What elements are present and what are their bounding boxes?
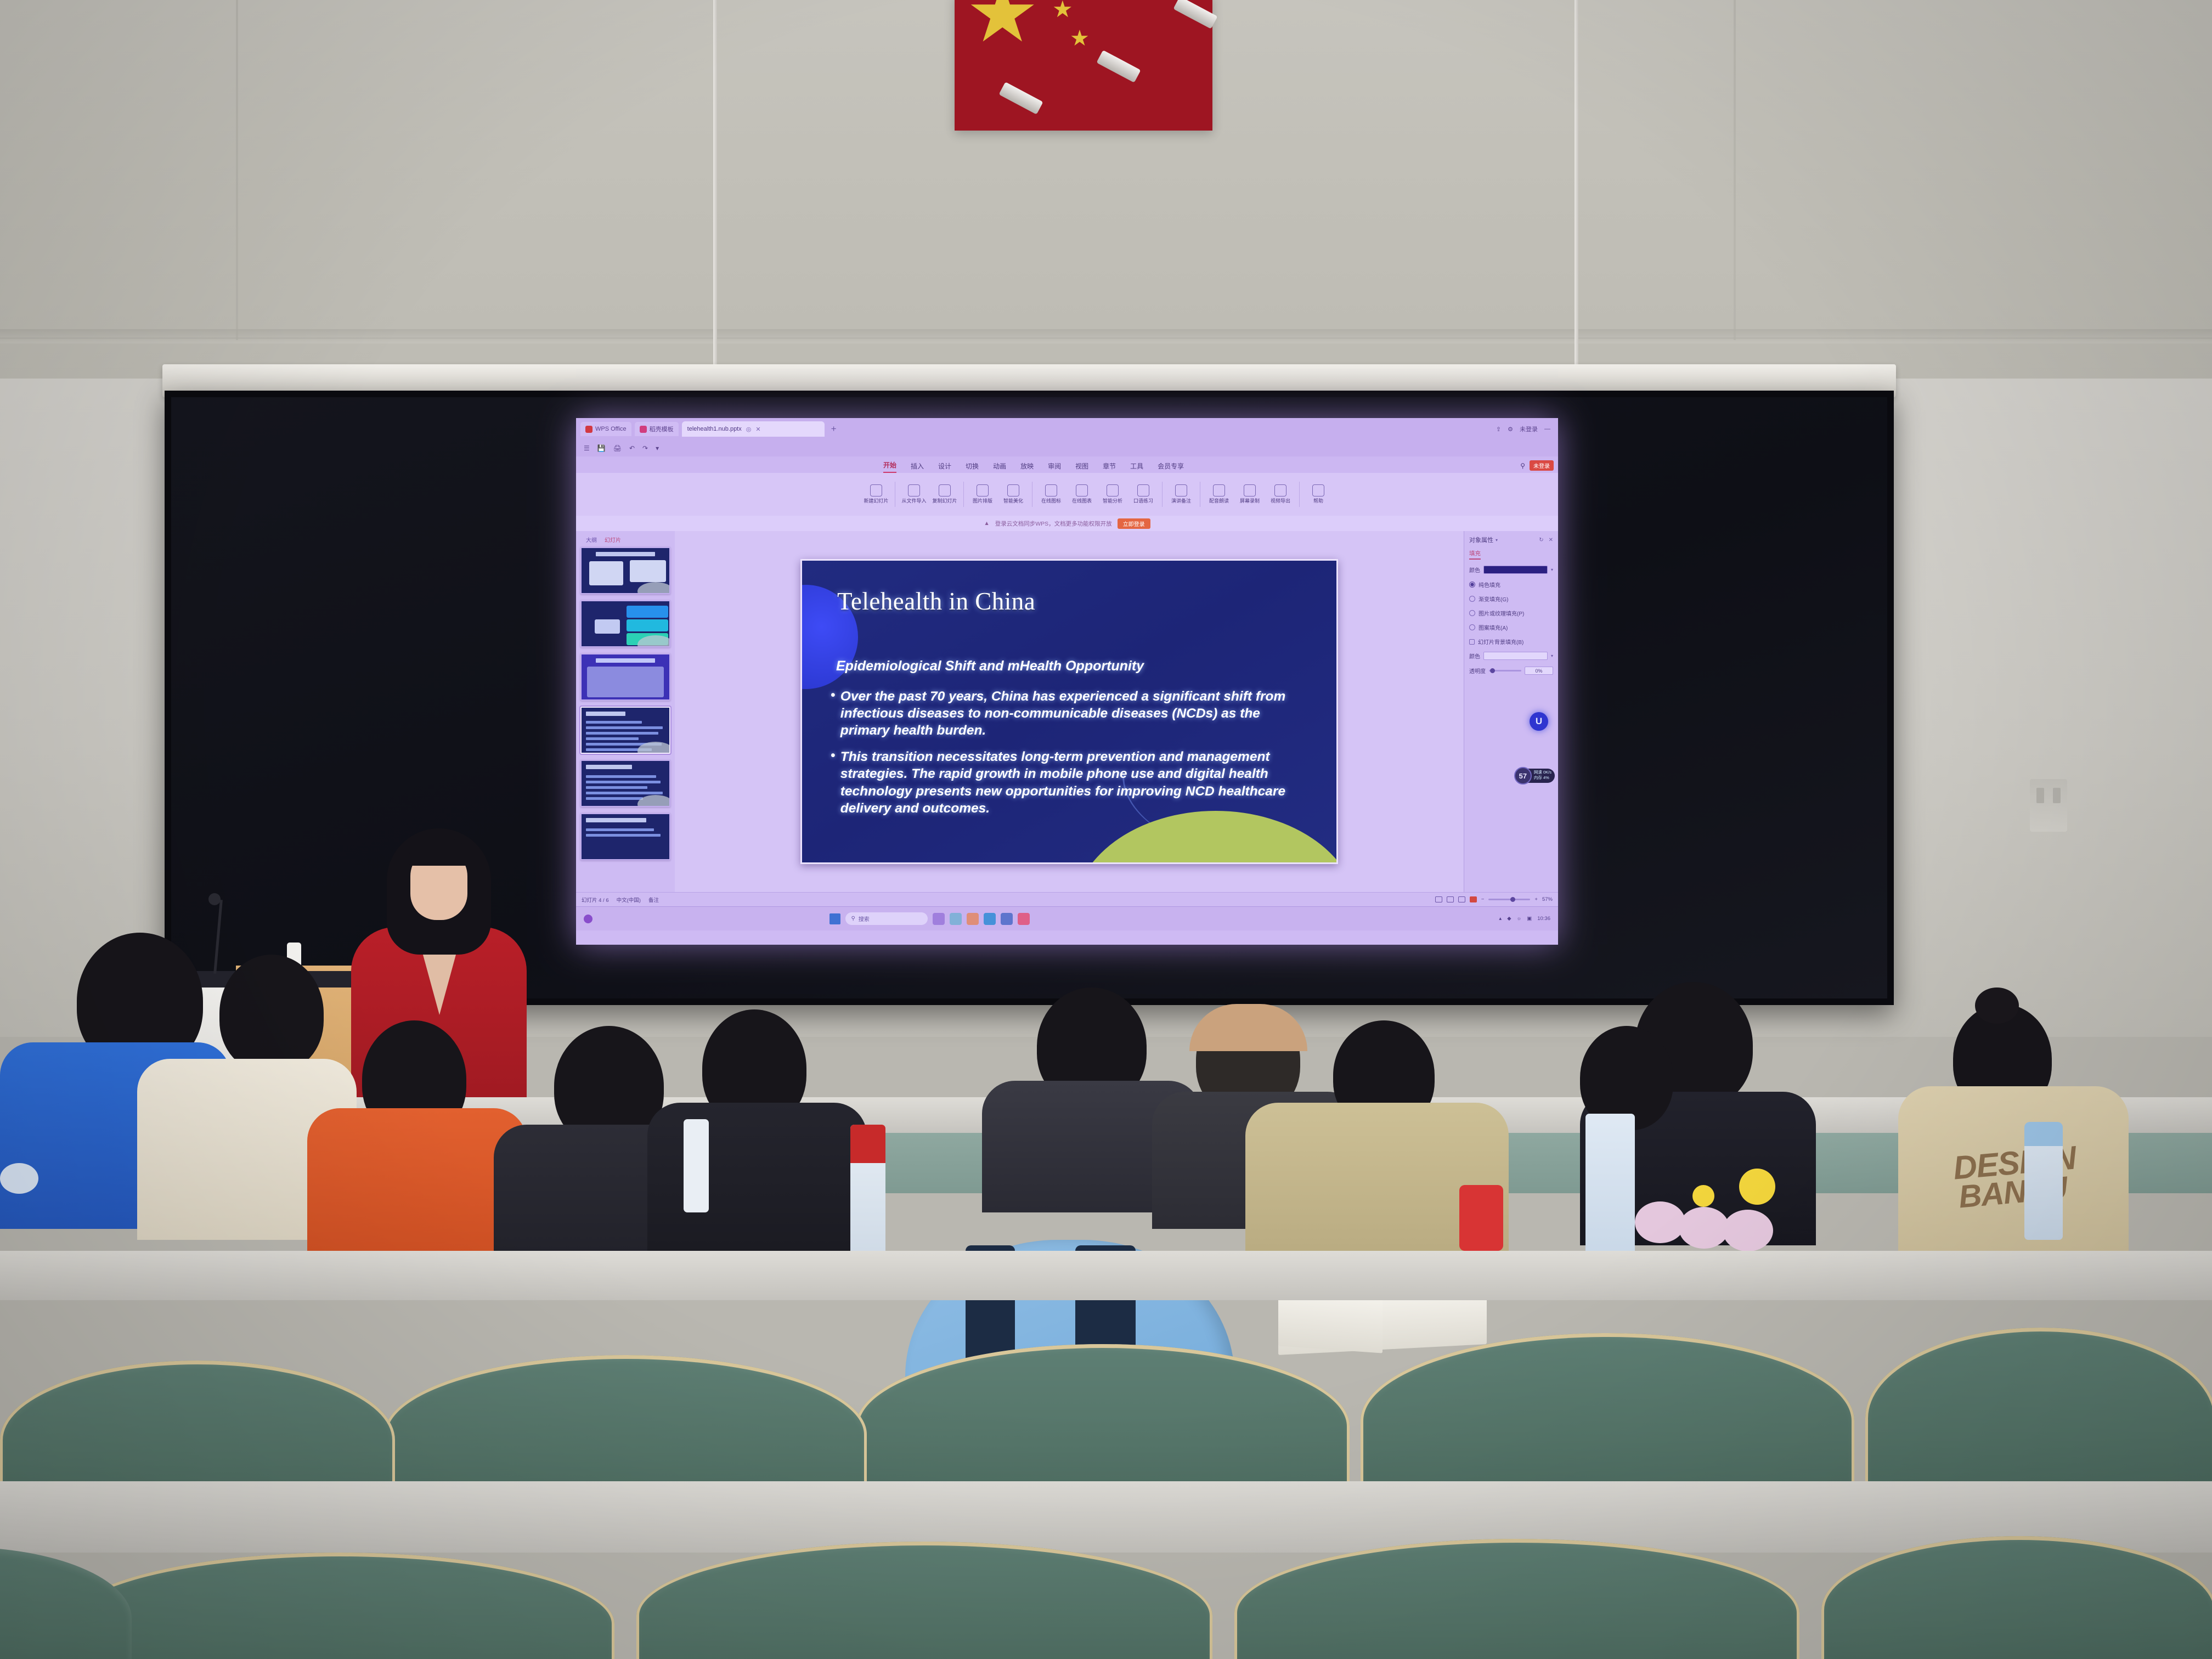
print-icon[interactable]: 🖨 <box>613 444 622 452</box>
wall-seam <box>236 0 238 340</box>
radio-icon[interactable] <box>1469 624 1475 630</box>
bullet-dot-icon: • <box>831 748 836 816</box>
ribbon-smart-analysis[interactable]: 智能分析 <box>1098 484 1127 504</box>
smart-analysis-icon <box>1107 484 1119 496</box>
store-icon[interactable] <box>1001 913 1013 925</box>
search-icon: ⚲ <box>851 916 855 922</box>
chinese-flag: ★ ★ ★ <box>955 0 1212 131</box>
volume-icon[interactable]: ☼ <box>1517 916 1522 922</box>
thumb-line <box>586 792 663 794</box>
share-icon[interactable]: ⇪ <box>1496 426 1501 433</box>
duplicate-slide-icon <box>939 484 951 496</box>
fill-option-label: 图案填充(A) <box>1479 623 1508 631</box>
object-properties-pane[interactable]: 对象属性 ▾ ↻ ✕ 填充 颜色 ▾ 纯色填充 <box>1464 531 1558 892</box>
flag-clip <box>1096 50 1141 83</box>
screen-record-icon <box>1244 484 1256 496</box>
wps-titlebar: WPS Office 稻壳模板 telehealth1.nub.pptx ◎ ✕… <box>576 418 1558 440</box>
microphone-head <box>208 893 221 905</box>
login-notice-bar[interactable]: ▲ 登录云文档同步WPS，文档更多功能权限开放 立即登录 <box>576 516 1558 531</box>
outline-tab[interactable]: 大纲 <box>586 535 597 544</box>
tab-insert[interactable]: 插入 <box>911 461 924 473</box>
graphic-print <box>1723 1210 1773 1251</box>
undo-icon[interactable]: ↶ <box>629 444 635 452</box>
smiley-patch-icon <box>1739 1169 1775 1205</box>
ribbon-tab-bar[interactable]: 开始 插入 设计 切换 动画 放映 审阅 视图 章节 工具 会员专享 ⚲ 未登录 <box>576 456 1558 473</box>
color-field-row[interactable]: 颜色 ▾ <box>1469 652 1553 660</box>
flag-star-small: ★ <box>1070 27 1090 49</box>
taskbar-center-group: ⚲ 搜索 <box>830 912 1030 925</box>
ribbon-import-file[interactable]: 从文件导入 <box>899 484 929 504</box>
thumb-blob <box>637 582 670 594</box>
red-thermos <box>1459 1185 1503 1251</box>
ribbon-import-file-label: 从文件导入 <box>901 499 926 504</box>
edge-icon[interactable] <box>984 913 996 925</box>
battery-icon[interactable]: ▣ <box>1527 916 1532 922</box>
bottle-cap <box>2024 1122 2063 1146</box>
slide-indicator: 幻灯片 4 / 6 <box>582 896 609 904</box>
transparency-slider[interactable] <box>1489 670 1521 672</box>
graphic-print <box>1635 1201 1685 1243</box>
slide-title[interactable]: Telehealth in China <box>837 587 1035 616</box>
slide-canvas-area[interactable]: Telehealth in China Epidemiological Shif… <box>675 531 1464 892</box>
search-placeholder: 搜索 <box>859 915 870 923</box>
ribbon-dubbing[interactable]: 配音朗读 <box>1204 484 1234 504</box>
slide-bullet-item[interactable]: • This transition necessitates long-term… <box>831 748 1310 816</box>
thumb-bar <box>627 606 668 618</box>
taskbar-clock[interactable]: 10:36 <box>1537 916 1550 922</box>
ribbon-beautify-label: 智能美化 <box>1003 499 1023 504</box>
help-icon <box>1312 484 1324 496</box>
slide-bullet-text: Over the past 70 years, China has experi… <box>840 688 1310 739</box>
ribbon-speech-practice[interactable]: 口语练习 <box>1128 484 1158 504</box>
radio-icon[interactable] <box>1469 582 1475 588</box>
shirt-logo <box>0 1163 38 1194</box>
ribbon-new-slide[interactable]: 新建幻灯片 <box>861 484 891 504</box>
tab-view[interactable]: 视图 <box>1075 461 1088 473</box>
student-torso <box>647 1103 867 1262</box>
thumb-title-bar <box>596 658 655 663</box>
language-indicator[interactable]: 中文(中国) <box>617 896 641 904</box>
transparency-value[interactable]: 0% <box>1525 667 1553 675</box>
wall-seam <box>0 337 2212 339</box>
properties-pane-title: 对象属性 <box>1469 535 1493 544</box>
zoom-slider[interactable] <box>1488 899 1530 900</box>
seat-trim <box>66 1553 614 1659</box>
online-chart-icon <box>1076 484 1088 496</box>
warning-icon: ▲ <box>984 520 989 527</box>
login-badge[interactable]: 未登录 <box>1530 460 1554 471</box>
fill-option-slide-background[interactable]: 幻灯片背景填充(B) <box>1469 637 1553 646</box>
wps-home-tab-label: WPS Office <box>595 426 627 432</box>
weather-icon <box>584 915 592 923</box>
close-tab-icon[interactable]: ✕ <box>755 426 760 433</box>
smiley-patch-icon <box>1692 1185 1714 1207</box>
hanging-cable <box>1575 0 1578 384</box>
student-head <box>219 955 324 1073</box>
dubbing-icon <box>1213 484 1225 496</box>
thumb-line <box>586 797 643 800</box>
menu-icon[interactable]: ☰ <box>584 444 590 452</box>
thumb-title-bar <box>586 765 632 769</box>
copilot-icon[interactable] <box>933 913 945 925</box>
checkbox-icon[interactable] <box>1469 639 1475 645</box>
tab-design[interactable]: 设计 <box>938 461 951 473</box>
tab-animation[interactable]: 动画 <box>993 461 1006 473</box>
ribbon-smart-analysis-label: 智能分析 <box>1103 499 1122 504</box>
thumb-line <box>586 737 639 740</box>
thumb-title-bar <box>596 552 655 556</box>
transparency-row[interactable]: 透明度 0% <box>1469 667 1553 675</box>
lock-icon[interactable]: ◎ <box>746 426 752 433</box>
ribbon-online-chart-label: 在线图表 <box>1072 499 1092 504</box>
taskbar-search-input[interactable]: ⚲ 搜索 <box>845 912 928 925</box>
thumb-line <box>586 732 658 735</box>
thumb-bar <box>627 619 668 631</box>
slides-tab[interactable]: 幻灯片 <box>605 535 621 544</box>
slide-subtitle[interactable]: Epidemiological Shift and mHealth Opport… <box>836 658 1144 674</box>
ribbon-divider <box>895 482 895 507</box>
properties-pane-header: 对象属性 ▾ ↻ ✕ <box>1469 535 1553 544</box>
wps-home-tab[interactable]: WPS Office <box>580 422 631 436</box>
ribbon-right: ⚲ 未登录 <box>1520 460 1554 471</box>
thumb-pyramid <box>595 619 620 634</box>
seat-trim <box>1234 1539 1799 1659</box>
ribbon-online-chart[interactable]: 在线图表 <box>1067 484 1097 504</box>
fill-option-label: 幻灯片背景填充(B) <box>1478 637 1523 646</box>
thumb-card <box>587 667 664 697</box>
chevron-down-icon[interactable]: ▾ <box>1551 653 1553 658</box>
ribbon-divider <box>1162 482 1163 507</box>
flag-star-small: ★ <box>1052 0 1073 21</box>
mail-icon[interactable] <box>967 913 979 925</box>
reading-view-icon[interactable] <box>1458 896 1465 902</box>
ribbon-picture-layout-label: 图片排版 <box>973 499 992 504</box>
thumbnail-slide-6[interactable] <box>580 813 670 860</box>
thumb-line <box>586 781 661 783</box>
ribbon-divider <box>1299 482 1300 507</box>
taskbar-weather-widget[interactable] <box>584 915 592 923</box>
ribbon-online-icon-label: 在线图标 <box>1041 499 1061 504</box>
color-field-label: 颜色 <box>1469 652 1480 660</box>
classroom-scene: ★ ★ ★ WPS Office 稻壳模板 telehealth1.nub.pp… <box>0 0 2212 1659</box>
current-slide[interactable]: Telehealth in China Epidemiological Shif… <box>800 559 1338 864</box>
hanging-cable <box>713 0 717 395</box>
slide-bullet-list[interactable]: • Over the past 70 years, China has expe… <box>831 688 1310 826</box>
thumbnail-slide-3[interactable] <box>580 653 670 701</box>
wps-icon[interactable] <box>1018 913 1030 925</box>
slide-thumbnail-panel[interactable]: 大纲 幻灯片 <box>576 531 675 892</box>
notes-button[interactable]: 备注 <box>648 896 659 904</box>
water-bottle <box>2024 1130 2063 1240</box>
chevron-down-icon[interactable]: ▾ <box>1496 538 1498 543</box>
fill-option-picture[interactable]: 图片或纹理填充(P) <box>1469 609 1553 617</box>
desk-row-front <box>0 1481 2212 1553</box>
explorer-icon[interactable] <box>950 913 962 925</box>
thumb-card <box>589 561 623 585</box>
thumbnail-slide-5[interactable] <box>580 760 670 807</box>
login-now-button[interactable]: 立即登录 <box>1118 518 1150 529</box>
template-icon <box>640 426 647 433</box>
thumbnail-panel-header: 大纲 幻灯片 <box>580 534 670 547</box>
presenter-hair-front <box>408 838 470 866</box>
ribbon-divider <box>1200 482 1200 507</box>
document-tab[interactable]: telehealth1.nub.pptx ◎ ✕ <box>682 421 825 437</box>
radio-icon[interactable] <box>1469 596 1475 602</box>
template-tab[interactable]: 稻壳模板 <box>635 422 679 436</box>
beautify-icon <box>1007 484 1019 496</box>
tab-review[interactable]: 审阅 <box>1048 461 1061 473</box>
import-file-icon <box>908 484 920 496</box>
search-icon[interactable]: ⚲ <box>1520 462 1525 470</box>
thumb-title-bar <box>586 712 625 716</box>
performance-widget[interactable]: 57 网速 0K/s 内存 4% <box>1514 767 1555 785</box>
ribbon-new-slide-label: 新建幻灯片 <box>864 499 888 504</box>
fill-color-swatch[interactable] <box>1483 566 1548 574</box>
fill-color-row[interactable]: 颜色 ▾ <box>1469 566 1553 574</box>
windows-start-icon[interactable] <box>830 913 840 924</box>
speech-practice-icon <box>1137 484 1149 496</box>
thumb-title-bar <box>586 818 646 822</box>
properties-pane-title-group[interactable]: 对象属性 ▾ <box>1469 535 1498 544</box>
bullet-dot-icon: • <box>831 688 836 739</box>
wall-switch-plate[interactable] <box>2030 779 2067 832</box>
close-icon[interactable]: ✕ <box>1549 537 1553 543</box>
zoom-level[interactable]: 57% <box>1542 896 1553 902</box>
seat-trim <box>636 1542 1212 1659</box>
transparency-label: 透明度 <box>1469 667 1486 675</box>
ribbon-help[interactable]: 帮助 <box>1304 484 1333 504</box>
thumb-line <box>586 828 654 831</box>
tab-member[interactable]: 会员专享 <box>1158 461 1184 473</box>
ribbon-duplicate-slide-label: 复制幻灯片 <box>932 499 957 504</box>
thumb-line <box>586 721 642 724</box>
seat-back <box>0 1547 132 1659</box>
ribbon-speech-practice-label: 口语练习 <box>1133 499 1153 504</box>
thumb-line <box>586 726 663 729</box>
desk-row <box>0 1251 2212 1300</box>
wall-seam <box>1734 0 1736 340</box>
ribbon-notes[interactable]: 演讲备注 <box>1166 484 1196 504</box>
ribbon-screen-record[interactable]: 屏幕录制 <box>1235 484 1265 504</box>
app-badge-icon[interactable]: U <box>1530 712 1548 731</box>
flag-star-large: ★ <box>966 0 1039 54</box>
tab-slideshow[interactable]: 放映 <box>1020 461 1034 473</box>
login-notice-text: 登录云文档同步WPS，文档更多功能权限开放 <box>995 520 1112 528</box>
bottle-label <box>850 1125 885 1163</box>
thumbnail-slide-1[interactable] <box>580 547 670 594</box>
play-icon[interactable] <box>1470 896 1477 902</box>
water-bottle <box>684 1119 709 1212</box>
fill-option-label: 图片或纹理填充(P) <box>1479 609 1524 617</box>
ceiling-beam <box>0 329 2212 343</box>
ribbon-dubbing-label: 配音朗读 <box>1209 499 1229 504</box>
online-icon <box>1045 484 1057 496</box>
color-field-input[interactable] <box>1483 652 1548 660</box>
sorter-view-icon[interactable] <box>1447 896 1454 902</box>
quick-access-toolbar[interactable]: ☰ 💾 🖨 ↶ ↷ ▾ <box>576 440 1558 456</box>
ribbon-screen-record-label: 屏幕录制 <box>1240 499 1260 504</box>
ribbon-video-export-label: 视频导出 <box>1271 499 1290 504</box>
ribbon-divider <box>1032 482 1032 507</box>
tab-tools[interactable]: 工具 <box>1130 461 1143 473</box>
thumb-line <box>586 834 661 837</box>
ribbon-duplicate-slide[interactable]: 复制幻灯片 <box>930 484 960 504</box>
settings-icon[interactable]: ⚙ <box>1508 426 1513 433</box>
wps-logo-icon <box>585 426 592 433</box>
radio-icon[interactable] <box>1469 610 1475 616</box>
ribbon-online-icon[interactable]: 在线图标 <box>1036 484 1066 504</box>
normal-view-icon[interactable] <box>1435 896 1442 902</box>
network-speed: 网速 0K/s <box>1534 770 1551 775</box>
thumb-line <box>586 775 656 778</box>
wps-office-window[interactable]: WPS Office 稻壳模板 telehealth1.nub.pptx ◎ ✕… <box>576 418 1558 945</box>
refresh-icon[interactable]: ↻ <box>1539 537 1543 543</box>
slide-bullet-text: This transition necessitates long-term p… <box>840 748 1310 816</box>
ribbon-beautify[interactable]: 智能美化 <box>998 484 1028 504</box>
fill-option-label: 纯色填充 <box>1479 580 1500 589</box>
chevron-up-icon[interactable]: ▴ <box>1499 916 1502 922</box>
thumb-card <box>630 560 666 582</box>
zoom-out-icon[interactable]: − <box>1481 896 1485 902</box>
document-tab-label: telehealth1.nub.pptx <box>687 426 742 432</box>
fill-tab[interactable]: 填充 <box>1469 549 1481 560</box>
redo-icon[interactable]: ↷ <box>642 444 648 452</box>
minimize-icon[interactable]: — <box>1544 426 1550 432</box>
thumbnail-slide-2[interactable] <box>580 600 670 647</box>
ribbon-toolbar[interactable]: 新建幻灯片 从文件导入 复制幻灯片 图片排版 智能美化 <box>576 473 1558 516</box>
picture-layout-icon <box>977 484 989 496</box>
memory-usage: 内存 4% <box>1534 775 1551 781</box>
properties-pane-actions: ↻ ✕ <box>1539 537 1553 543</box>
tab-section[interactable]: 章节 <box>1103 461 1116 473</box>
network-icon[interactable]: ◆ <box>1507 916 1511 922</box>
more-icon[interactable]: ▾ <box>656 444 659 452</box>
fill-option-solid[interactable]: 纯色填充 <box>1469 580 1553 589</box>
fill-option-pattern[interactable]: 图案填充(A) <box>1469 623 1553 631</box>
fill-color-label: 颜色 <box>1469 566 1480 574</box>
ribbon-notes-label: 演讲备注 <box>1171 499 1191 504</box>
ribbon-video-export[interactable]: 视频导出 <box>1266 484 1295 504</box>
ribbon-divider <box>963 482 964 507</box>
zoom-in-icon[interactable]: + <box>1534 896 1538 902</box>
hair-bun <box>1975 988 2019 1024</box>
new-tab-button[interactable]: + <box>828 424 840 435</box>
taskbar-system-tray[interactable]: ▴ ◆ ☼ ▣ 10:36 <box>1499 916 1550 922</box>
chevron-down-icon[interactable]: ▾ <box>1551 567 1553 572</box>
notes-icon <box>1175 484 1187 496</box>
wps-main-body: 大纲 幻灯片 <box>576 531 1558 892</box>
graphic-print <box>1679 1207 1729 1249</box>
thumbnail-slide-4[interactable] <box>580 707 670 754</box>
seat-trim <box>1821 1536 2212 1659</box>
template-tab-label: 稻壳模板 <box>650 425 674 433</box>
wps-status-bar[interactable]: 幻灯片 4 / 6 中文(中国) 备注 − + 57% <box>576 892 1558 906</box>
tab-transition[interactable]: 切换 <box>966 461 979 473</box>
ribbon-picture-layout[interactable]: 图片排版 <box>968 484 997 504</box>
thumb-line <box>586 786 647 789</box>
flag-clip <box>1173 0 1217 29</box>
flag-clip <box>998 82 1043 115</box>
status-right-group: − + 57% <box>1435 896 1553 902</box>
tab-start[interactable]: 开始 <box>883 460 896 473</box>
video-export-icon <box>1274 484 1286 496</box>
fill-option-label: 渐变填充(G) <box>1479 595 1508 603</box>
windows-taskbar[interactable]: ⚲ 搜索 ▴ ◆ ☼ ▣ 10:36 <box>576 906 1558 930</box>
account-label[interactable]: 未登录 <box>1520 425 1538 433</box>
slide-bullet-item[interactable]: • Over the past 70 years, China has expe… <box>831 688 1310 739</box>
new-slide-icon <box>870 484 882 496</box>
fill-option-gradient[interactable]: 渐变填充(G) <box>1469 595 1553 603</box>
titlebar-right: ⇪ ⚙ 未登录 — <box>1496 425 1554 433</box>
performance-score: 57 <box>1514 767 1532 785</box>
ribbon-help-label: 帮助 <box>1313 499 1323 504</box>
save-icon[interactable]: 💾 <box>597 444 606 452</box>
